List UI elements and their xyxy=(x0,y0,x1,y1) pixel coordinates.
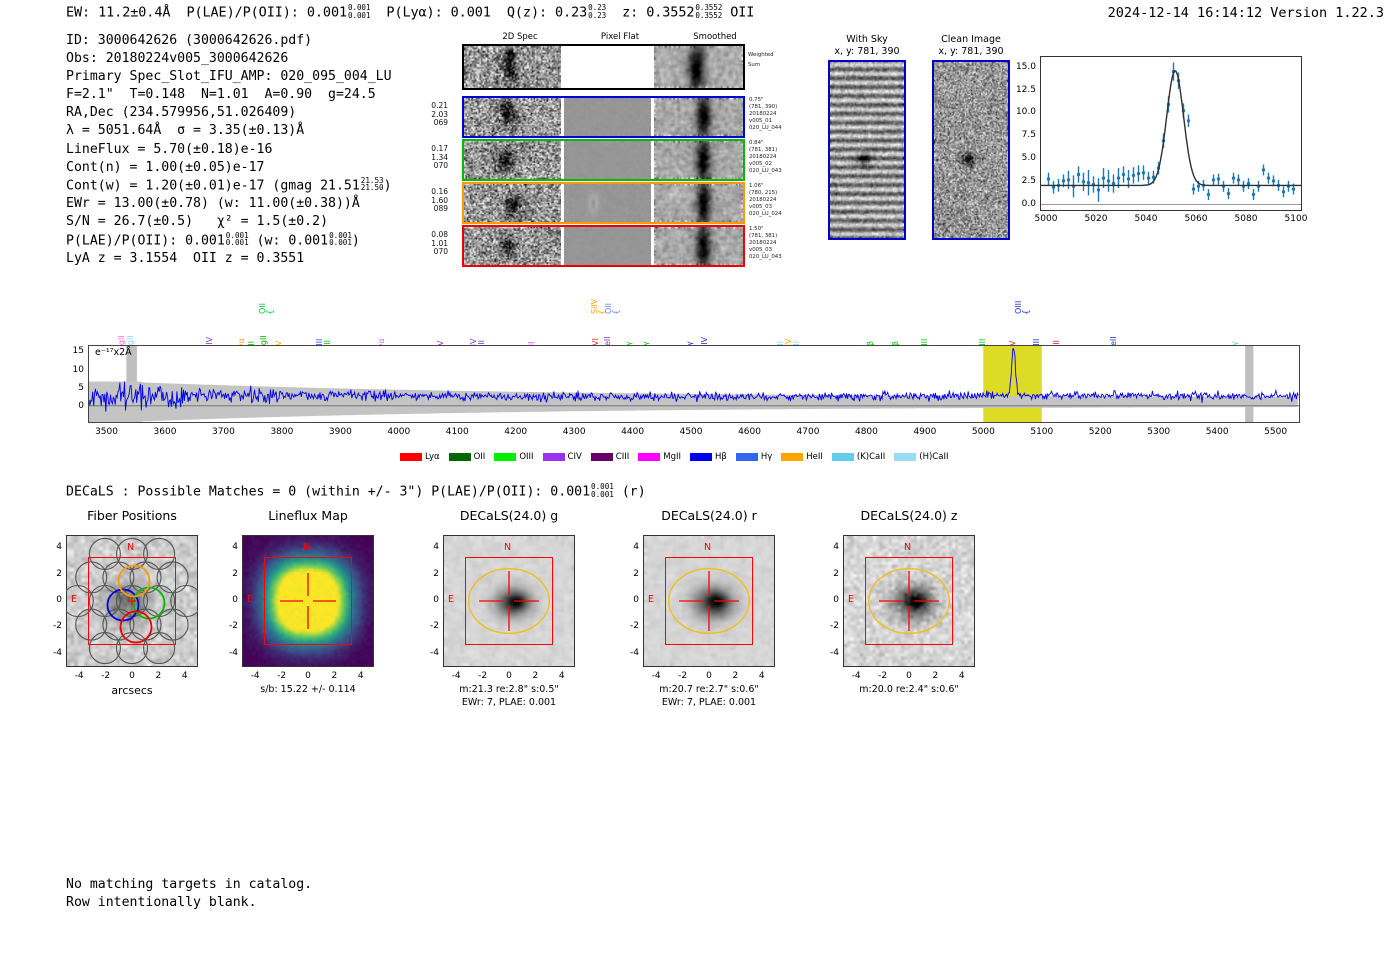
legend-swatch xyxy=(638,453,660,461)
compass-north: N xyxy=(303,542,310,553)
spectrum-x-tick: 4400 xyxy=(613,427,653,437)
legend-item: (K)CaII xyxy=(832,452,885,462)
compass-east: E xyxy=(648,594,654,605)
cutout-overlay xyxy=(242,535,374,667)
legend-swatch xyxy=(781,453,803,461)
legend-label: Hβ xyxy=(715,452,727,462)
spectrum-legend: LyαOIIOIIICIVCIIIMgIIHβHγHeII(K)CaII(H)C… xyxy=(400,452,957,462)
cutout-y-tick: -4 xyxy=(817,648,839,658)
compass-east: E xyxy=(247,594,253,605)
legend-item: HeII xyxy=(781,452,823,462)
legend-swatch xyxy=(400,453,422,461)
decals-header: DECaLS : Possible Matches = 0 (within +/… xyxy=(66,483,646,499)
legend-swatch xyxy=(894,453,916,461)
spectrum-x-tick: 4100 xyxy=(437,427,477,437)
legend-item: OIII xyxy=(494,452,533,462)
spectrum-x-tick: 3900 xyxy=(320,427,360,437)
legend-label: CIII xyxy=(616,452,629,462)
spectrum-x-tick: 5000 xyxy=(963,427,1003,437)
legend-label: HeII xyxy=(806,452,823,462)
compass-north: N xyxy=(904,542,911,553)
spectrum-x-tick: 4200 xyxy=(496,427,536,437)
spectrum-x-tick: 5100 xyxy=(1022,427,1062,437)
legend-item: Hβ xyxy=(690,452,727,462)
footer-note: No matching targets in catalog. Row inte… xyxy=(66,876,312,912)
legend-label: OII xyxy=(474,452,486,462)
cutout-title: Lineflux Map xyxy=(214,508,402,523)
legend-label: Lyα xyxy=(425,452,440,462)
cutout-y-tick: 4 xyxy=(817,542,839,552)
cutout-x-tick: 4 xyxy=(746,671,778,681)
legend-item: MgII xyxy=(638,452,681,462)
footer-line-2: Row intentionally blank. xyxy=(66,894,312,912)
legend-swatch xyxy=(736,453,758,461)
cutout-overlay xyxy=(643,535,775,667)
compass-north: N xyxy=(704,542,711,553)
cutout-y-tick: 4 xyxy=(216,542,238,552)
cutout-x-tick: 4 xyxy=(345,671,377,681)
legend-label: CIV xyxy=(568,452,582,462)
cutout-y-tick: -2 xyxy=(817,621,839,631)
spectrum-x-tick: 3700 xyxy=(203,427,243,437)
compass-east: E xyxy=(71,594,77,605)
cutout-title: DECaLS(24.0) z xyxy=(815,508,1003,523)
compass-north: N xyxy=(504,542,511,553)
cutout-overlay xyxy=(443,535,575,667)
cutout-title: Fiber Positions xyxy=(38,508,226,523)
compass-east: E xyxy=(448,594,454,605)
cutout-y-tick: 2 xyxy=(617,569,639,579)
legend-label: MgII xyxy=(663,452,681,462)
cutout-caption-secondary: EWr: 7, PLAE: 0.001 xyxy=(413,697,605,708)
legend-item: OII xyxy=(449,452,486,462)
spectrum-x-tick: 4000 xyxy=(379,427,419,437)
cutout-y-tick: -2 xyxy=(40,621,62,631)
spectrum-x-tick: 4600 xyxy=(730,427,770,437)
spectrum-x-tick: 4500 xyxy=(671,427,711,437)
cutout-x-tick: 4 xyxy=(946,671,978,681)
decals-header-text: DECaLS : Possible Matches = 0 (within +/… xyxy=(66,484,590,499)
cutout-y-tick: -2 xyxy=(417,621,439,631)
cutout-y-tick: -4 xyxy=(216,648,238,658)
spectrum-x-tick: 4700 xyxy=(788,427,828,437)
cutout-y-tick: 4 xyxy=(40,542,62,552)
spectrum-x-tick: 5300 xyxy=(1139,427,1179,437)
legend-label: (H)CaII xyxy=(919,452,948,462)
footer-line-1: No matching targets in catalog. xyxy=(66,876,312,894)
cutout-title: DECaLS(24.0) r xyxy=(615,508,803,523)
spectrum-x-tick: 4900 xyxy=(905,427,945,437)
cutout-caption-primary: m:20.7 re:2.7" s:0.6" xyxy=(613,684,805,695)
cutout-overlay xyxy=(66,535,198,667)
spectrum-x-tick: 3800 xyxy=(262,427,302,437)
cutout-row: Fiber PositionsNE-4-2024-4-2024arcsecsLi… xyxy=(0,0,1400,260)
legend-item: Lyα xyxy=(400,452,440,462)
legend-swatch xyxy=(449,453,471,461)
cutout-overlay xyxy=(843,535,975,667)
legend-item: (H)CaII xyxy=(894,452,948,462)
legend-label: OIII xyxy=(519,452,533,462)
spectrum-x-tick: 5500 xyxy=(1256,427,1296,437)
legend-swatch xyxy=(591,453,613,461)
decals-plae-range: 0.0010.001 xyxy=(591,483,614,498)
legend-swatch xyxy=(494,453,516,461)
spectrum-x-tick: 4300 xyxy=(554,427,594,437)
cutout-y-tick: 0 xyxy=(40,595,62,605)
cutout-y-tick: 2 xyxy=(216,569,238,579)
cutout-y-tick: 0 xyxy=(216,595,238,605)
cutout-y-tick: 2 xyxy=(817,569,839,579)
spectrum-x-tick: 5200 xyxy=(1080,427,1120,437)
legend-label: (K)CaII xyxy=(857,452,885,462)
cutout-y-tick: 0 xyxy=(817,595,839,605)
legend-swatch xyxy=(832,453,854,461)
cutout-y-tick: -2 xyxy=(216,621,238,631)
cutout-y-tick: 4 xyxy=(617,542,639,552)
cutout-y-tick: -4 xyxy=(617,648,639,658)
cutout-caption-primary: s/b: 15.22 +/- 0.114 xyxy=(212,684,404,695)
spectrum-x-tick: 3500 xyxy=(87,427,127,437)
legend-item: CIII xyxy=(591,452,629,462)
spectrum-x-tick: 4800 xyxy=(846,427,886,437)
legend-item: CIV xyxy=(543,452,582,462)
cutout-title: DECaLS(24.0) g xyxy=(415,508,603,523)
cutout-y-tick: 4 xyxy=(417,542,439,552)
cutout-caption-secondary: EWr: 7, PLAE: 0.001 xyxy=(613,697,805,708)
cutout-x-tick: 4 xyxy=(169,671,201,681)
cutout-y-tick: 2 xyxy=(417,569,439,579)
compass-east: E xyxy=(848,594,854,605)
compass-north: N xyxy=(127,542,134,553)
decals-header-band: (r) xyxy=(622,484,646,499)
cutout-caption-primary: m:21.3 re:2.8" s:0.5" xyxy=(413,684,605,695)
cutout-x-tick: 4 xyxy=(546,671,578,681)
legend-item: Hγ xyxy=(736,452,772,462)
cutout-y-tick: 0 xyxy=(417,595,439,605)
cutout-caption-primary: m:20.0 re:2.4" s:0.6" xyxy=(813,684,1005,695)
cutout-y-tick: -2 xyxy=(617,621,639,631)
legend-swatch xyxy=(543,453,565,461)
spectrum-x-tick: 5400 xyxy=(1197,427,1237,437)
cutout-y-tick: 0 xyxy=(617,595,639,605)
cutout-y-tick: 2 xyxy=(40,569,62,579)
legend-label: Hγ xyxy=(761,452,772,462)
legend-swatch xyxy=(690,453,712,461)
cutout-xlabel: arcsecs xyxy=(46,684,218,697)
cutout-y-tick: -4 xyxy=(417,648,439,658)
spectrum-x-tick: 3600 xyxy=(145,427,185,437)
cutout-y-tick: -4 xyxy=(40,648,62,658)
